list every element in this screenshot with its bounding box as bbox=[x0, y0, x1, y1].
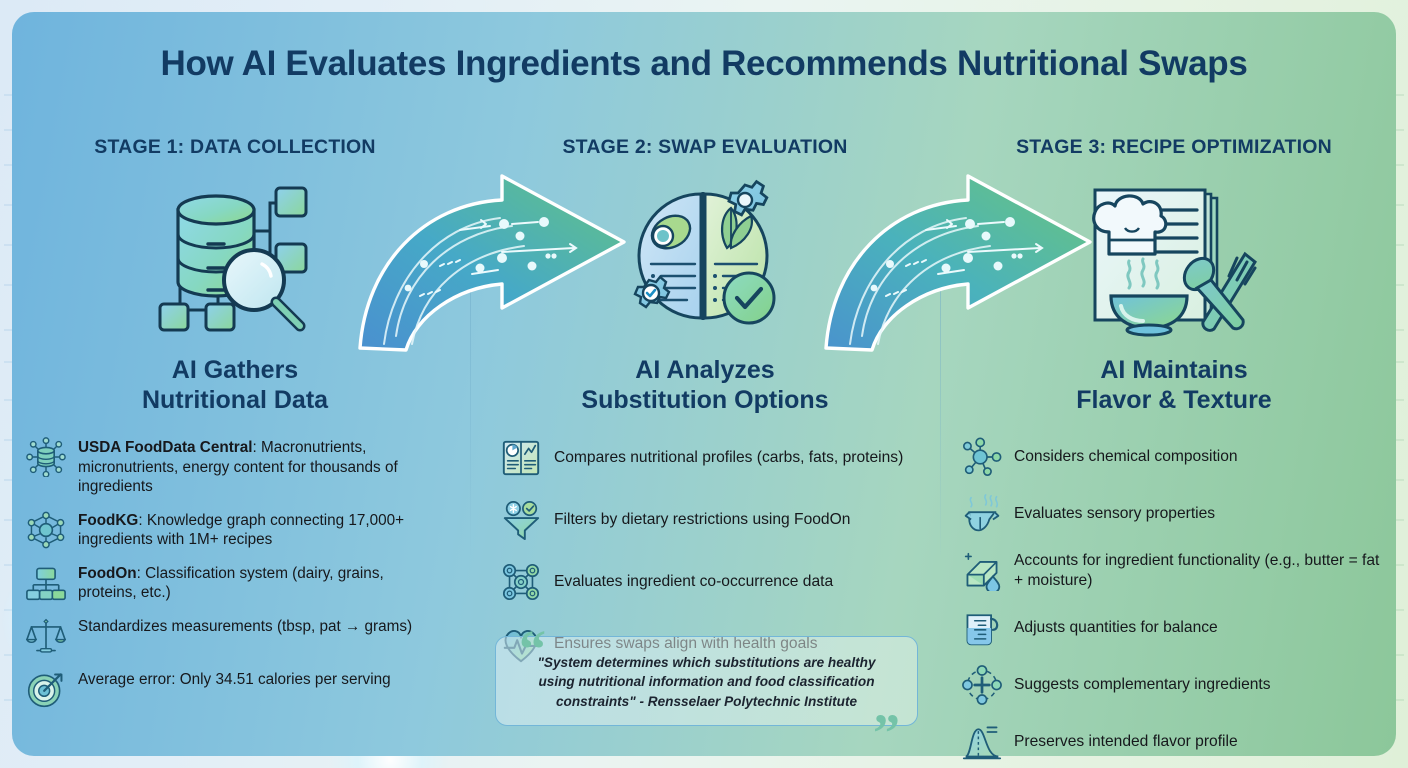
list-item-text: Standardizes measurements (tbsp, pat → g… bbox=[78, 616, 412, 637]
list-item: Considers chemical composition bbox=[962, 437, 1384, 477]
molecule-icon bbox=[962, 437, 1002, 477]
list-item-text: Evaluates sensory properties bbox=[1014, 504, 1215, 524]
list-item-text: Average error: Only 34.51 calories per s… bbox=[78, 669, 391, 690]
stage-heading-3-line2: Flavor & Texture bbox=[1076, 386, 1271, 414]
knowledge-graph-icon bbox=[26, 510, 66, 550]
butter-droplet-icon bbox=[962, 551, 1002, 591]
list-item-text: Considers chemical composition bbox=[1014, 447, 1238, 467]
list-item: Compares nutritional profiles (carbs, fa… bbox=[500, 437, 916, 479]
hero-icon-stage-3 bbox=[940, 171, 1408, 346]
network-grid-icon bbox=[500, 561, 542, 603]
database-magnifier-icon bbox=[140, 176, 330, 341]
hero-icon-stage-1 bbox=[0, 171, 470, 346]
quote-callout: “ "System determines which substitutions… bbox=[495, 636, 918, 726]
stage-column-1: STAGE 1: DATA COLLECTION bbox=[0, 128, 470, 758]
stage-heading-1-line2: Nutritional Data bbox=[142, 386, 328, 414]
list-item-text: USDA FoodData Central: Macronutrients, m… bbox=[78, 437, 446, 497]
page-title: How AI Evaluates Ingredients and Recomme… bbox=[0, 44, 1408, 84]
bullet-list-stage-1: USDA FoodData Central: Macronutrients, m… bbox=[0, 437, 470, 709]
list-item-text: Suggests complementary ingredients bbox=[1014, 675, 1271, 695]
stage-heading-1: AI Gathers Nutritional Data bbox=[0, 356, 470, 415]
split-circle-comparison-icon bbox=[615, 176, 795, 341]
stage-heading-2-line2: Substitution Options bbox=[581, 386, 828, 414]
stage-column-3: STAGE 3: RECIPE OPTIMIZATION bbox=[940, 128, 1408, 758]
comparison-chart-icon bbox=[500, 437, 542, 479]
stage-column-2: STAGE 2: SWAP EVALUATION bbox=[470, 128, 940, 758]
taste-tongue-icon bbox=[962, 494, 1002, 534]
infographic-content: How AI Evaluates Ingredients and Recomme… bbox=[0, 0, 1408, 768]
list-item-text: Preserves intended flavor profile bbox=[1014, 732, 1238, 752]
database-network-icon bbox=[26, 437, 66, 477]
list-item: FoodKG: Knowledge graph connecting 17,00… bbox=[26, 510, 446, 550]
stage-heading-3: AI Maintains Flavor & Texture bbox=[940, 356, 1408, 415]
list-item: Adjusts quantities for balance bbox=[962, 608, 1384, 648]
list-item: Evaluates sensory properties bbox=[962, 494, 1384, 534]
stage-label-1: STAGE 1: DATA COLLECTION bbox=[0, 136, 470, 159]
list-item: FoodOn: Classification system (dairy, gr… bbox=[26, 563, 446, 603]
stage-label-3: STAGE 3: RECIPE OPTIMIZATION bbox=[940, 136, 1408, 159]
target-arrow-icon bbox=[26, 669, 66, 709]
stage-heading-3-line1: AI Maintains bbox=[1100, 356, 1247, 384]
plus-network-icon bbox=[962, 665, 1002, 705]
quote-mark-open: “ bbox=[519, 622, 546, 676]
quote-mark-close: ” bbox=[873, 706, 900, 760]
quote-text: "System determines which substitutions a… bbox=[495, 636, 918, 726]
list-item-text: Compares nutritional profiles (carbs, fa… bbox=[554, 448, 903, 468]
list-item-text: FoodOn: Classification system (dairy, gr… bbox=[78, 563, 446, 603]
bullet-list-stage-3: Considers chemical composition bbox=[940, 437, 1408, 762]
measuring-cup-icon bbox=[962, 608, 1002, 648]
list-item-text: Filters by dietary restrictions using Fo… bbox=[554, 510, 850, 530]
list-item: Average error: Only 34.51 calories per s… bbox=[26, 669, 446, 709]
bell-curve-icon bbox=[962, 722, 1002, 762]
stage-label-2: STAGE 2: SWAP EVALUATION bbox=[470, 136, 940, 159]
list-item-text: Evaluates ingredient co-occurrence data bbox=[554, 572, 833, 592]
list-item-text: FoodKG: Knowledge graph connecting 17,00… bbox=[78, 510, 446, 550]
stage-heading-2: AI Analyzes Substitution Options bbox=[470, 356, 940, 415]
funnel-filter-icon bbox=[500, 499, 542, 541]
hierarchy-tree-icon bbox=[26, 563, 66, 603]
list-item: Standardizes measurements (tbsp, pat → g… bbox=[26, 616, 446, 656]
list-item-lead: FoodKG bbox=[78, 512, 138, 529]
list-item: Filters by dietary restrictions using Fo… bbox=[500, 499, 916, 541]
balance-scale-icon bbox=[26, 616, 66, 656]
chef-hat-recipe-icon bbox=[1077, 176, 1272, 341]
stage-heading-1-line1: AI Gathers bbox=[172, 356, 298, 384]
list-item: Suggests complementary ingredients bbox=[962, 665, 1384, 705]
list-item-lead: FoodOn bbox=[78, 565, 137, 582]
list-item: Accounts for ingredient functionality (e… bbox=[962, 551, 1384, 591]
list-item: USDA FoodData Central: Macronutrients, m… bbox=[26, 437, 446, 497]
stage-heading-2-line1: AI Analyzes bbox=[635, 356, 774, 384]
list-item: Evaluates ingredient co-occurrence data bbox=[500, 561, 916, 603]
list-item-text: Adjusts quantities for balance bbox=[1014, 618, 1218, 638]
list-item: Preserves intended flavor profile bbox=[962, 722, 1384, 762]
hero-icon-stage-2 bbox=[470, 171, 940, 346]
list-item-text: Accounts for ingredient functionality (e… bbox=[1014, 551, 1384, 591]
list-item-lead: USDA FoodData Central bbox=[78, 439, 253, 456]
